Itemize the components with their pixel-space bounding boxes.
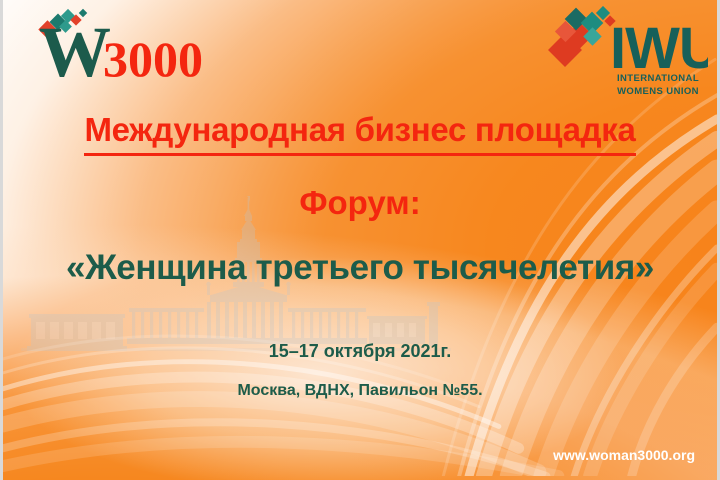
poster-headline-text: Международная бизнес площадка bbox=[84, 111, 635, 156]
iwu-wordmark: IWU bbox=[610, 16, 708, 81]
iwu-logo: IWU International Womens Union logo IWU … bbox=[548, 6, 708, 98]
event-poster: W3000 logo W 3000 IWU International Wome… bbox=[0, 0, 720, 480]
w3000-logo: W3000 logo W 3000 bbox=[31, 8, 206, 86]
poster-headline: Международная бизнес площадка bbox=[3, 113, 717, 146]
w3000-letter: W bbox=[39, 12, 111, 86]
poster-venue: Москва, ВДНХ, Павильон №55. bbox=[3, 383, 717, 399]
iwu-diamond-cluster bbox=[548, 6, 616, 67]
poster-forum-label: Форум: bbox=[3, 186, 717, 219]
poster-theme-title: «Женщина третьего тысячелетия» bbox=[3, 250, 717, 285]
iwu-subtitle-line-2: WOMENS UNION bbox=[617, 86, 699, 97]
poster-website-url[interactable]: www.woman3000.org bbox=[3, 448, 717, 462]
iwu-subtitle-line-1: INTERNATIONAL bbox=[617, 73, 699, 84]
w3000-number: 3000 bbox=[103, 31, 203, 86]
poster-dates: 15–17 октября 2021г. bbox=[3, 342, 717, 360]
